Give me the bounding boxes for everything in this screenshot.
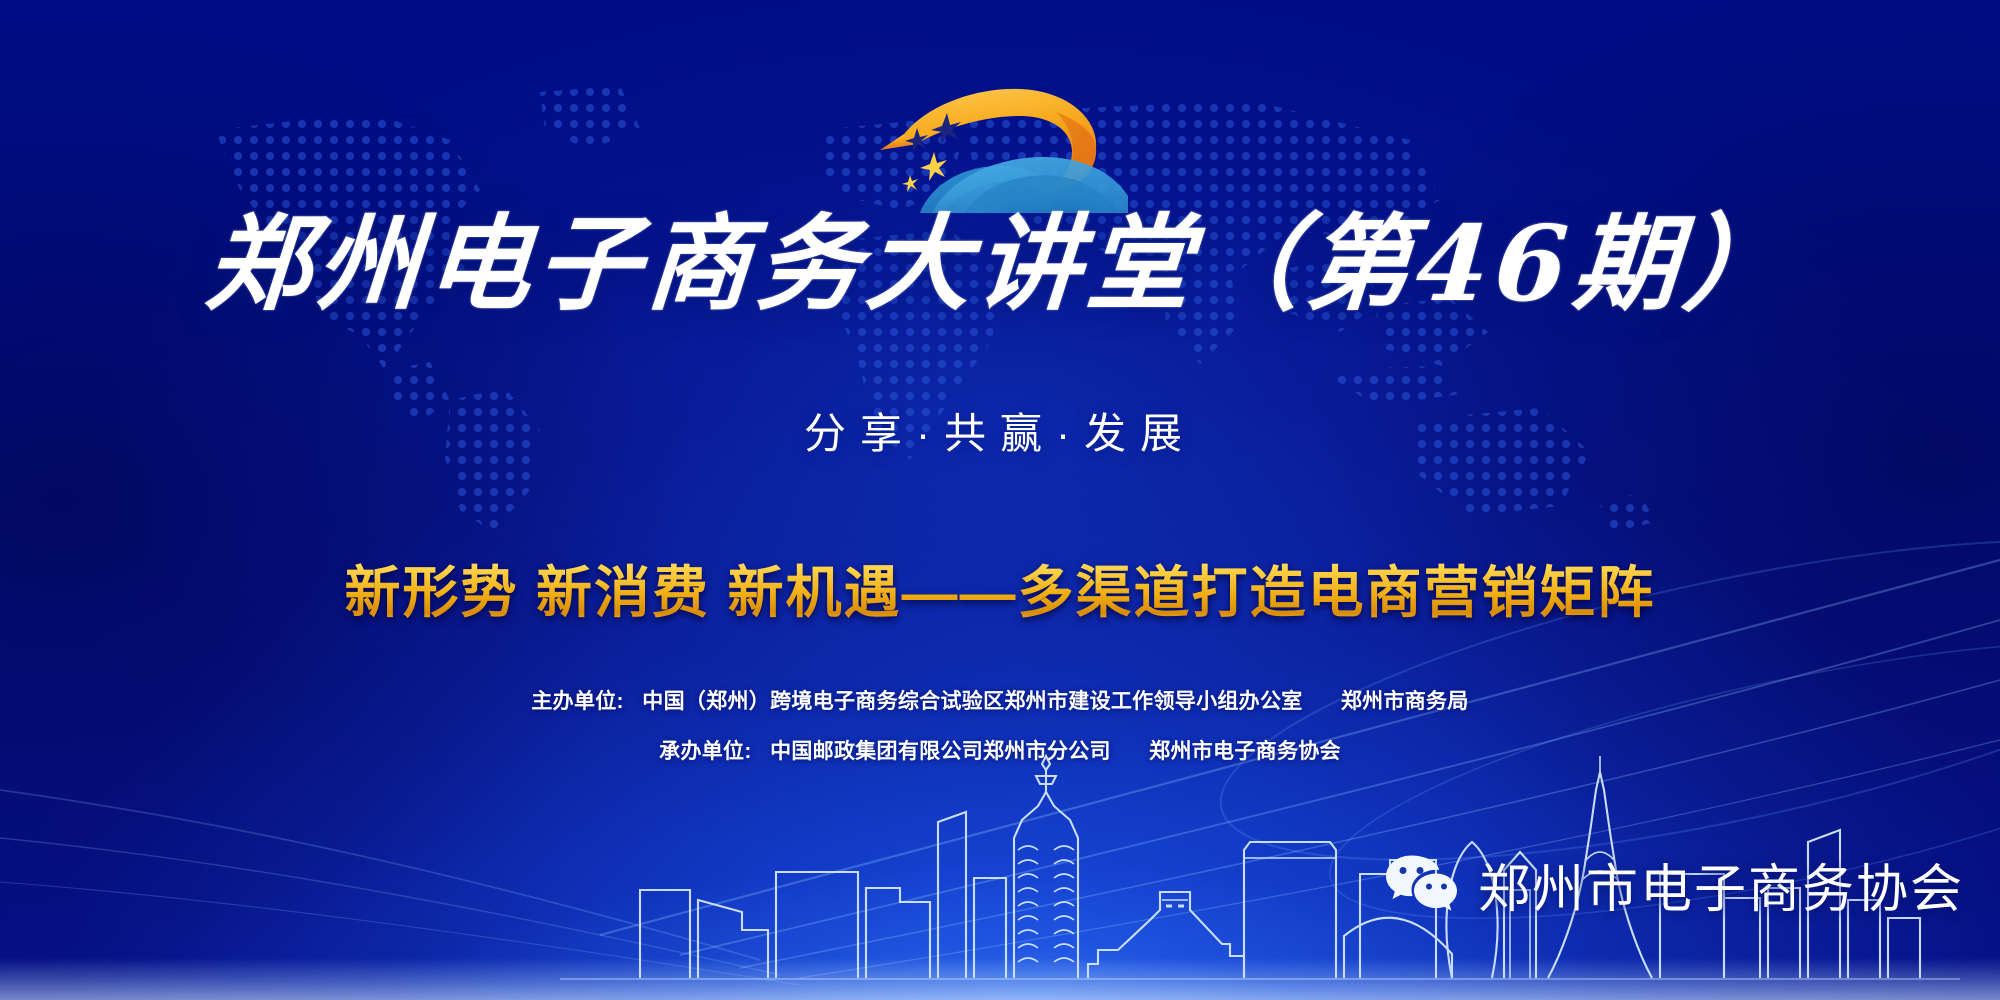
wechat-account-name: 郑州市电子商务协会 [1478, 847, 1964, 922]
organizer-line: 主办单位: 中国（郑州）跨境电子商务综合试验区郑州市建设工作领导小组办公室 郑州… [0, 685, 2000, 715]
bottom-sheen [0, 958, 2000, 1000]
tagline: 分享·共赢·发展 [0, 400, 2000, 461]
wechat-icon [1384, 853, 1460, 917]
zhengzhou-ecommerce-logo [860, 78, 1150, 213]
page-title: 郑州电子商务大讲堂（第46期） [0, 208, 2000, 320]
wechat-badge[interactable]: 郑州市电子商务协会 [1384, 847, 1964, 922]
poster-canvas: 郑州电子商务大讲堂（第46期） 分享·共赢·发展 新形势 新消费 新机遇——多渠… [0, 0, 2000, 1000]
organizer-entity-1: 中国（郑州）跨境电子商务综合试验区郑州市建设工作领导小组办公室 [642, 690, 1302, 713]
headline: 新形势 新消费 新机遇——多渠道打造电商营销矩阵 [0, 548, 2000, 629]
organizer-label: 主办单位: [531, 690, 624, 713]
organizer-entity-2: 郑州市商务局 [1341, 690, 1469, 713]
